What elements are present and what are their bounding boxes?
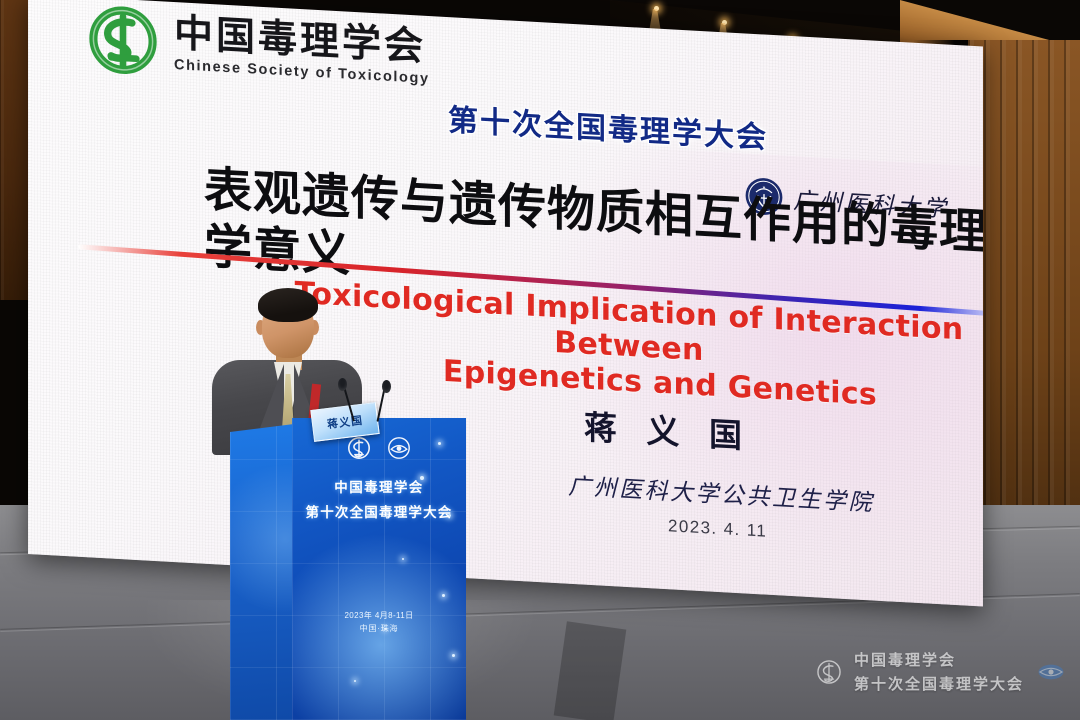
podium-front-panel: 中国毒理学会 第十次全国毒理学大会 2023年 4月8-11日 中国·珠海 (292, 418, 466, 720)
podium-location: 中国·珠海 (292, 623, 466, 634)
podium-particle (438, 442, 441, 445)
cst-circular-monogram-icon (86, 1, 160, 79)
led-backdrop-screen: 中国毒理学会 Chinese Society of Toxicology 第十次… (28, 0, 983, 607)
microphone-head-right (382, 380, 391, 393)
nameplate-text: 蒋义国 (326, 412, 364, 432)
podium-emblems (347, 436, 411, 460)
speaker-name: 蒋 义 国 (584, 401, 751, 458)
watermark-line-1: 中国毒理学会 (854, 649, 1024, 670)
cst-watermark-icon (816, 659, 842, 685)
conference-badge-icon (1036, 661, 1066, 683)
floor-seam (554, 621, 627, 720)
podium-side-panel (230, 424, 294, 720)
podium-particle (354, 680, 356, 682)
watermark: 中国毒理学会 第十次全国毒理学大会 (816, 649, 1066, 694)
conference-emblem-icon (387, 436, 411, 460)
speaking-podium: 中国毒理学会 第十次全国毒理学大会 2023年 4月8-11日 中国·珠海 蒋义… (230, 418, 466, 720)
podium-particle (452, 654, 455, 657)
microphone-head-left (338, 378, 347, 391)
podium-conference-name: 第十次全国毒理学大会 (292, 501, 466, 521)
conference-photo: 中国毒理学会 Chinese Society of Toxicology 第十次… (0, 0, 1080, 720)
watermark-line-2: 第十次全国毒理学大会 (854, 673, 1024, 694)
cst-emblem-icon (347, 436, 371, 460)
podium-particle (402, 558, 404, 560)
svg-text:★: ★ (762, 185, 765, 189)
podium-date: 2023年 4月8-11日 (292, 610, 466, 621)
hair (258, 288, 318, 322)
podium-particle (442, 594, 445, 597)
podium-society-name: 中国毒理学会 (292, 476, 466, 496)
